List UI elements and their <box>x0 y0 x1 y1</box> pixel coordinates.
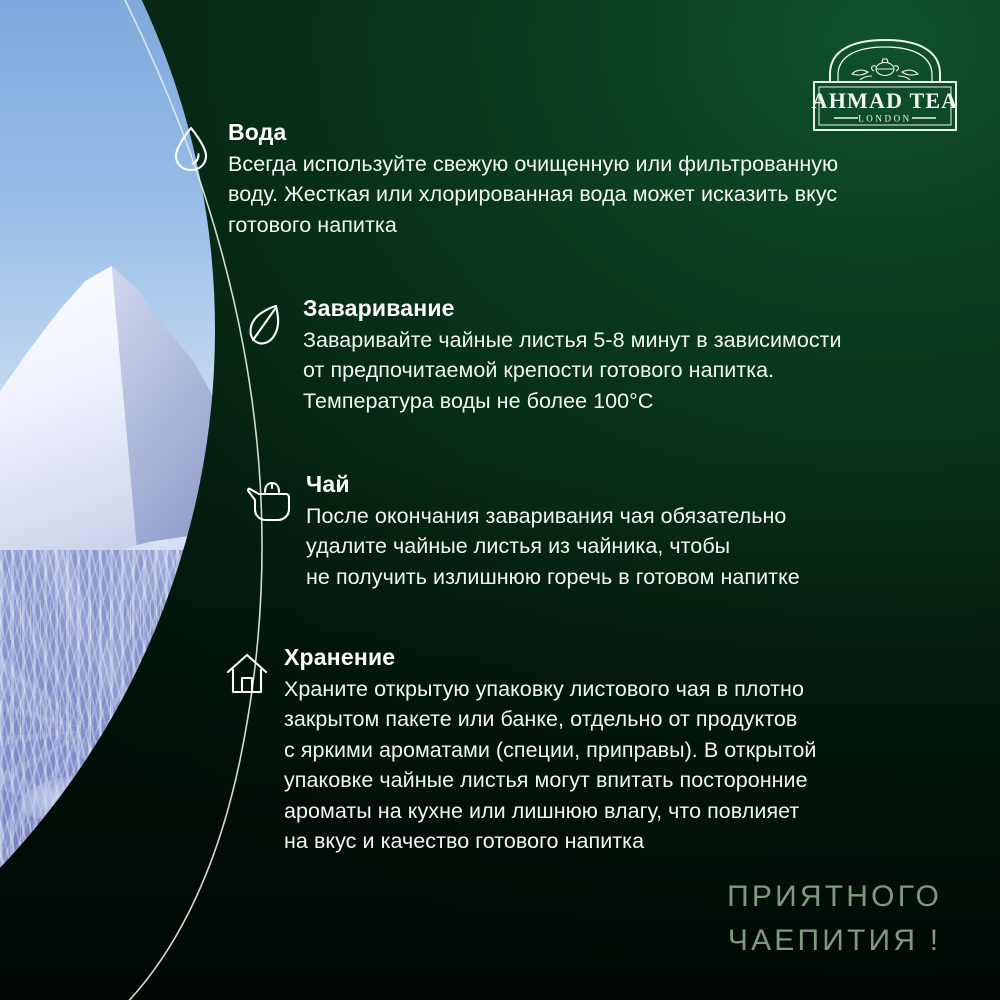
closing-message: ПРИЯТНОГО ЧАЕПИТИЯ ! <box>727 875 942 962</box>
house-icon <box>224 649 270 699</box>
teapot-icon <box>246 476 292 526</box>
section-storage: Хранение Храните открытую упаковку листо… <box>224 645 816 857</box>
section-water-body: Всегда используйте свежую очищенную или … <box>228 149 838 241</box>
logo-brand-text: AHMAD TEA <box>812 88 959 113</box>
section-brewing: Заваривание Заваривайте чайные листья 5-… <box>243 296 842 416</box>
section-storage-text: Хранение Храните открытую упаковку листо… <box>284 645 816 857</box>
section-tea: Чай После окончания заваривания чая обяз… <box>246 472 800 592</box>
section-storage-title: Хранение <box>284 645 816 671</box>
section-brewing-body: Заваривайте чайные листья 5-8 минут в за… <box>303 325 842 417</box>
section-brewing-title: Заваривание <box>303 296 842 322</box>
section-water: Вода Всегда используйте свежую очищенную… <box>168 120 838 240</box>
content-area: Вода Всегда используйте свежую очищенную… <box>0 0 1000 1000</box>
section-water-text: Вода Всегда используйте свежую очищенную… <box>228 120 838 240</box>
ahmad-tea-crest-logo: AHMAD TEA LONDON <box>810 38 960 134</box>
section-brewing-text: Заваривание Заваривайте чайные листья 5-… <box>303 296 842 416</box>
poster-root: AHMAD TEA LONDON Вода Всегда используйте… <box>0 0 1000 1000</box>
section-storage-body: Храните открытую упаковку листового чая … <box>284 674 816 857</box>
leaf-icon <box>243 300 289 350</box>
section-water-title: Вода <box>228 120 838 146</box>
water-drop-icon <box>168 124 214 174</box>
section-tea-text: Чай После окончания заваривания чая обяз… <box>306 472 800 592</box>
section-tea-body: После окончания заваривания чая обязател… <box>306 501 800 593</box>
section-tea-title: Чай <box>306 472 800 498</box>
logo-svg: AHMAD TEA LONDON <box>810 38 960 134</box>
logo-sub-text: LONDON <box>858 114 912 124</box>
